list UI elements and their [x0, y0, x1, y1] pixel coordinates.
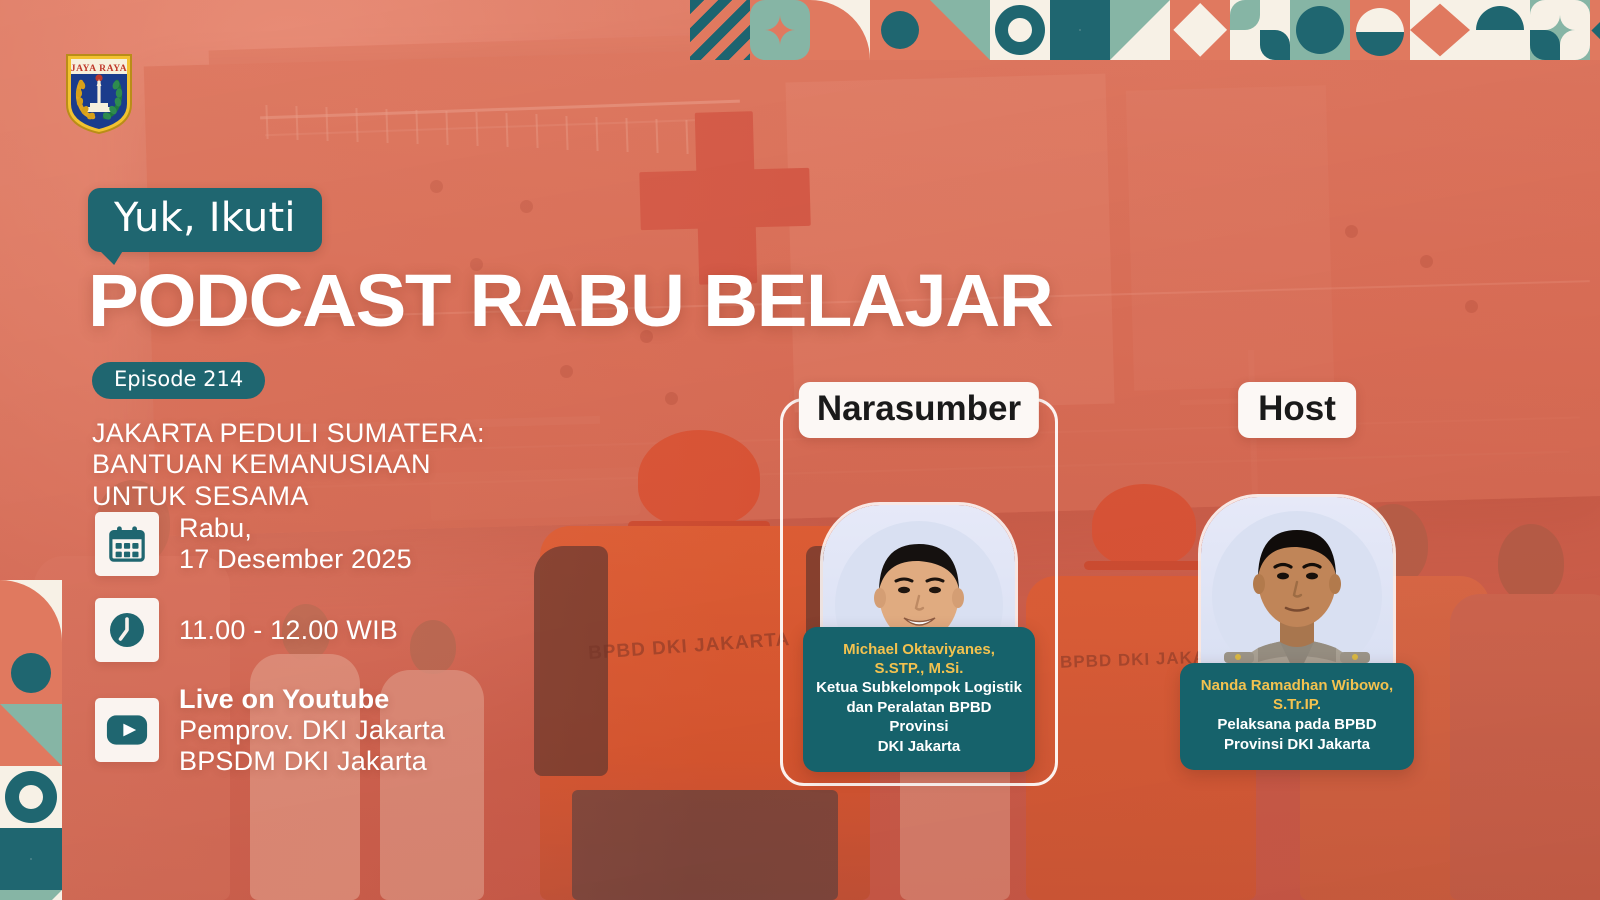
event-detail-row: Rabu,17 Desember 2025 — [95, 512, 445, 576]
speaker-name-narasumber: Michael Oktaviyanes,S.STP., M.Si. — [815, 641, 1023, 679]
speaker-name-line: Nanda Ramadhan Wibowo, — [1192, 677, 1402, 696]
role-badge-host: Host — [1238, 382, 1356, 438]
event-detail-row: Live on YoutubePemprov. DKI JakartaBPSDM… — [95, 684, 445, 776]
episode-badge: Episode 214 — [92, 362, 265, 399]
pattern-tile — [0, 642, 62, 704]
svg-text:JAYA RAYA: JAYA RAYA — [71, 64, 128, 74]
pattern-tile — [810, 0, 870, 60]
event-detail-line: Pemprov. DKI Jakarta — [179, 715, 445, 746]
event-detail-text: Live on YoutubePemprov. DKI JakartaBPSDM… — [179, 684, 445, 776]
pattern-tile — [1530, 0, 1590, 60]
speaker-name-host: Nanda Ramadhan Wibowo,S.Tr.IP. — [1192, 677, 1402, 715]
subtitle-line: UNTUK SESAMA — [92, 481, 485, 512]
role-badge-narasumber: Narasumber — [799, 382, 1039, 438]
kicker-badge: Yuk, Ikuti — [88, 188, 322, 252]
pattern-tile — [750, 0, 810, 60]
pattern-tile — [1350, 0, 1410, 60]
page-title: PODCAST RABU BELAJAR — [88, 264, 1052, 338]
pattern-tile — [1170, 0, 1230, 60]
event-detail-row: 11.00 - 12.00 WIB — [95, 598, 445, 662]
subtitle: JAKARTA PEDULI SUMATERA:BANTUAN KEMANUSI… — [92, 418, 485, 512]
dki-jakarta-logo: JAYA RAYA — [64, 52, 134, 134]
event-detail-text: Rabu,17 Desember 2025 — [179, 513, 412, 575]
poster-canvas: BPBD DKI JAKARTA BPBD DKI JAKAR — [0, 0, 1600, 900]
pattern-tile — [0, 704, 62, 766]
event-detail-line: Rabu, — [179, 513, 412, 544]
pattern-tile — [0, 890, 62, 900]
speaker-name-line: S.STP., M.Si. — [815, 660, 1023, 679]
pattern-tile — [1230, 0, 1290, 60]
event-detail-line: 17 Desember 2025 — [179, 544, 412, 575]
pattern-tile — [1110, 0, 1170, 60]
speaker-title-line: dan Peralatan BPBD Provinsi — [815, 699, 1023, 737]
pattern-tile — [0, 828, 62, 890]
speaker-card-narasumber: Narasumber — [780, 398, 1058, 786]
kicker-text: Yuk, Ikuti — [88, 188, 322, 252]
youtube-icon — [95, 698, 159, 762]
event-detail-line: Live on Youtube — [179, 684, 445, 715]
pattern-tile — [1470, 0, 1530, 60]
calendar-icon — [95, 512, 159, 576]
pattern-tile — [1050, 0, 1110, 60]
speaker-title-line: Ketua Subkelompok Logistik — [815, 679, 1023, 698]
subtitle-line: BANTUAN KEMANUSIAAN — [92, 449, 485, 480]
speaker-info-box-host: Nanda Ramadhan Wibowo,S.Tr.IP. Pelaksana… — [1180, 663, 1414, 770]
speaker-info-box-narasumber: Michael Oktaviyanes,S.STP., M.Si. Ketua … — [803, 627, 1035, 772]
subtitle-line: JAKARTA PEDULI SUMATERA: — [92, 418, 485, 449]
pattern-tile — [0, 580, 62, 642]
pattern-tile — [1590, 0, 1600, 60]
pattern-tile — [990, 0, 1050, 60]
pattern-tile — [1290, 0, 1350, 60]
event-detail-text: 11.00 - 12.00 WIB — [179, 615, 398, 646]
event-detail-line: 11.00 - 12.00 WIB — [179, 615, 398, 646]
pattern-tile — [690, 0, 750, 60]
decorative-pattern-left — [0, 580, 62, 900]
speaker-title-line: Pelaksana pada BPBD — [1192, 716, 1402, 735]
pattern-tile — [870, 0, 930, 60]
pattern-tile — [1410, 0, 1470, 60]
speaker-name-line: S.Tr.IP. — [1192, 696, 1402, 715]
speaker-title-narasumber: Ketua Subkelompok Logistikdan Peralatan … — [815, 679, 1023, 757]
speaker-name-line: Michael Oktaviyanes, — [815, 641, 1023, 660]
clock-icon — [95, 598, 159, 662]
speaker-title-host: Pelaksana pada BPBDProvinsi DKI Jakarta — [1192, 716, 1402, 755]
speaker-title-line: DKI Jakarta — [815, 738, 1023, 757]
speaker-title-line: Provinsi DKI Jakarta — [1192, 736, 1402, 755]
event-detail-line: BPSDM DKI Jakarta — [179, 746, 445, 777]
event-details-list: Rabu,17 Desember 202511.00 - 12.00 WIBLi… — [95, 512, 445, 798]
pattern-tile — [930, 0, 990, 60]
pattern-tile — [0, 766, 62, 828]
speaker-card-host: Host — [1180, 398, 1414, 770]
decorative-pattern-top — [690, 0, 1600, 60]
